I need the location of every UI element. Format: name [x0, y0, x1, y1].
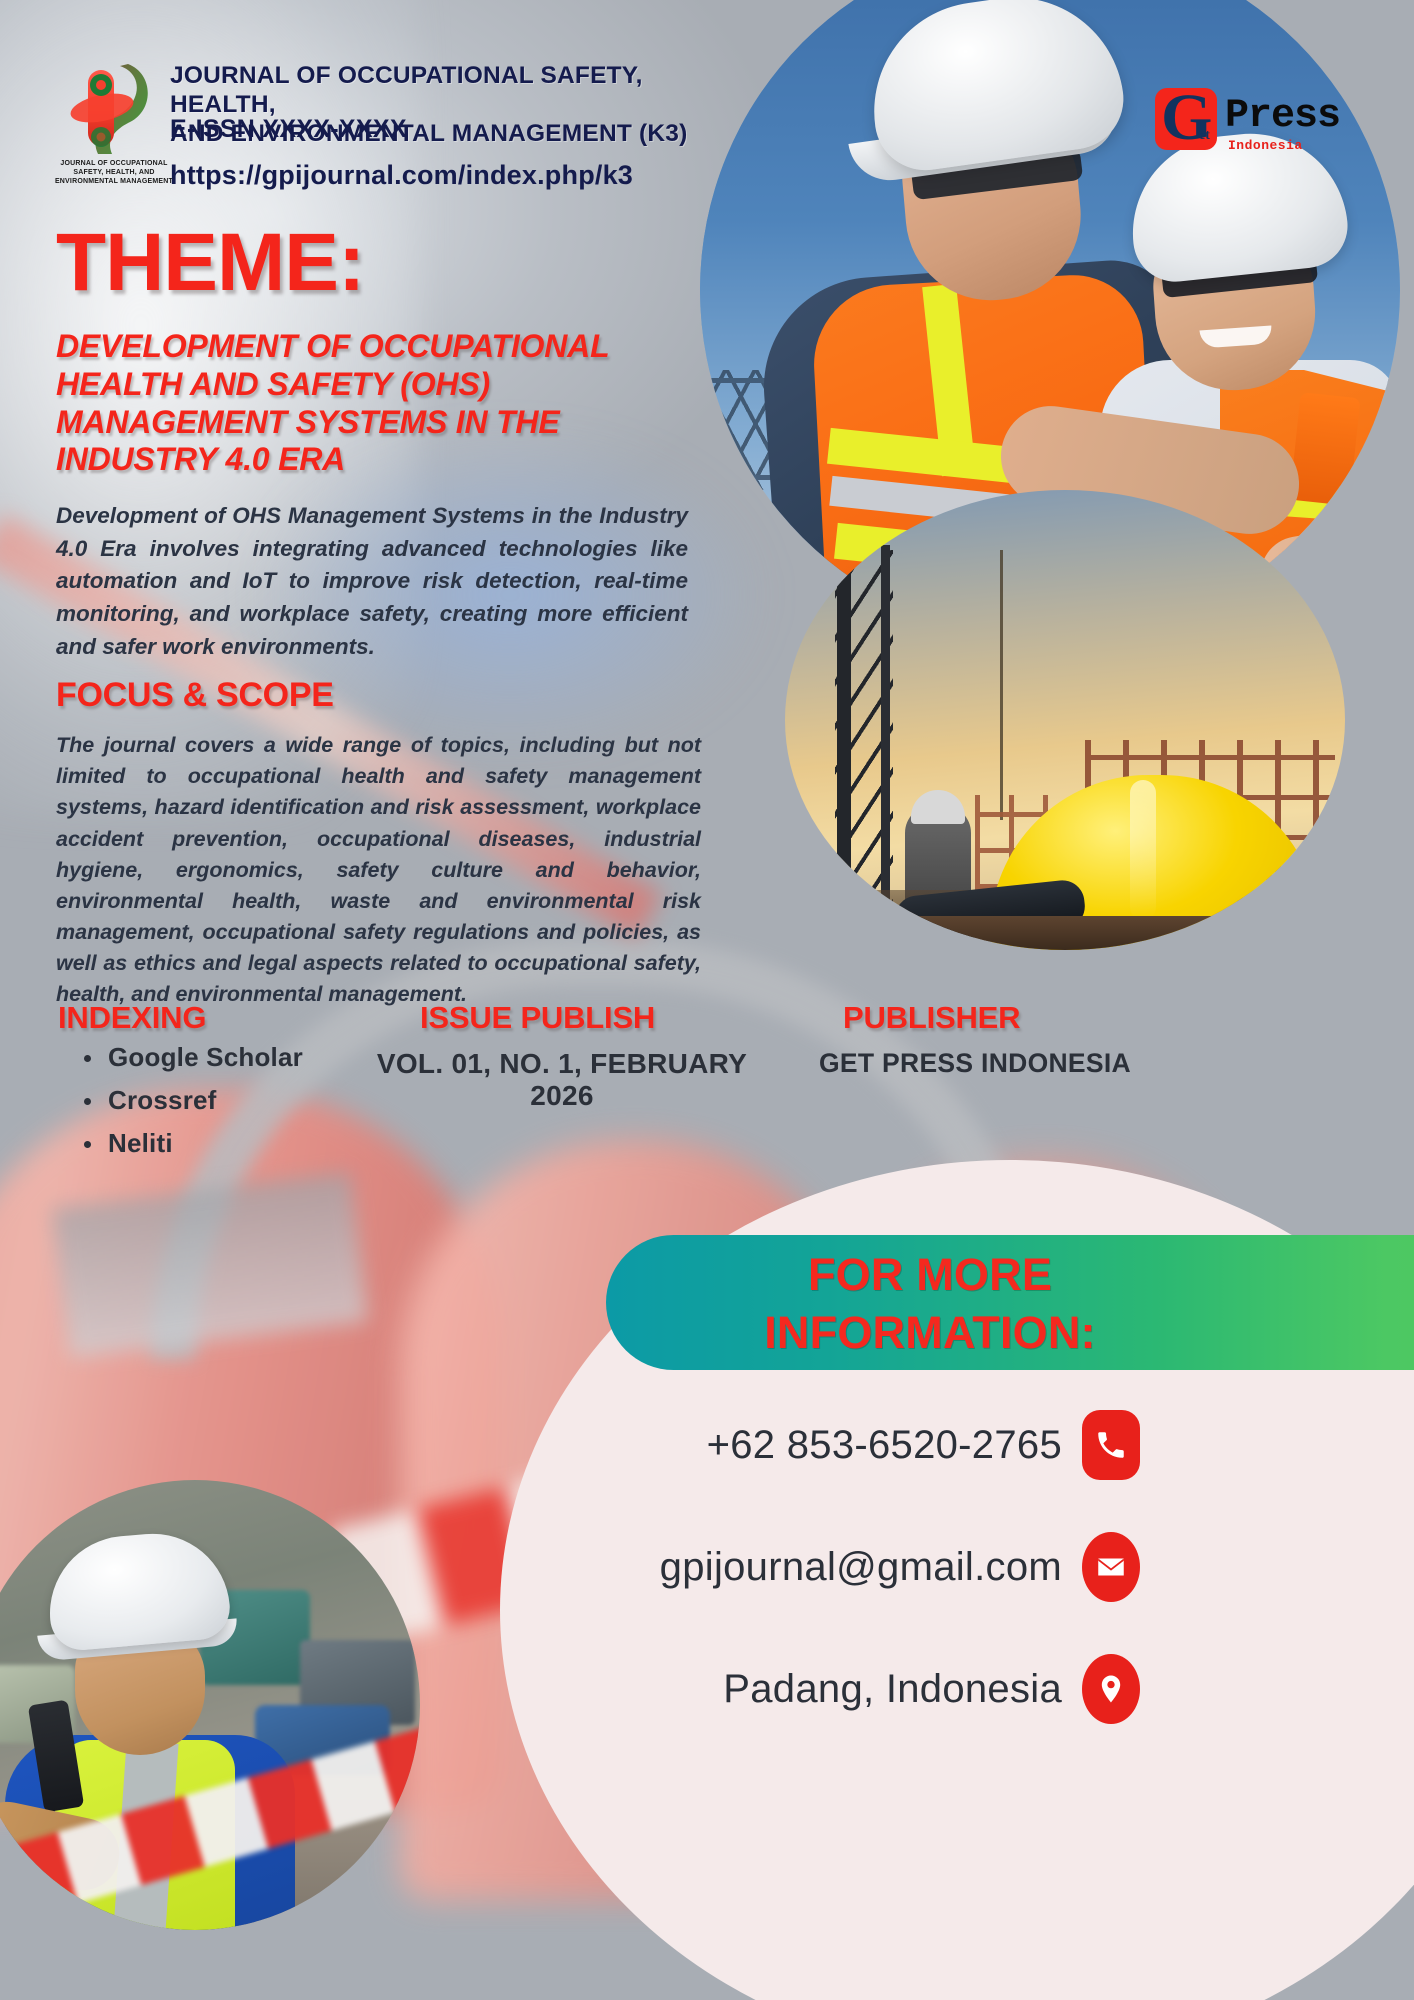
indexing-list: Google Scholar Crossref Neliti [78, 1042, 303, 1171]
theme-description: Development of OHS Management Systems in… [56, 500, 688, 663]
indexing-heading: INDEXING [58, 1000, 206, 1036]
contact-row-email[interactable]: gpijournal@gmail.com [540, 1532, 1140, 1602]
get-press-logo-indonesia: Indonesia [1228, 138, 1303, 153]
journal-url[interactable]: https://gpijournal.com/index.php/k3 [170, 160, 633, 191]
poster-root: JOURNAL OF OCCUPATIONAL SAFETY, HEALTH, … [0, 0, 1414, 2000]
envelope-icon[interactable] [1082, 1532, 1140, 1602]
crane-cable [1000, 550, 1003, 820]
publisher-heading: PUBLISHER [843, 1000, 1020, 1036]
contact-rows: +62 853-6520-2765 gpijournal@gmail.com P… [540, 1410, 1140, 1776]
list-item: Google Scholar [78, 1042, 303, 1073]
journal-logo: JOURNAL OF OCCUPATIONAL SAFETY, HEALTH, … [58, 52, 168, 182]
photo-worker-with-radio [0, 1480, 420, 1930]
contact-panel-inner: FOR MORE INFORMATION: +62 853-6520-2765 … [500, 1160, 1414, 2000]
worker2-radio [1290, 392, 1361, 506]
photo-construction-site [785, 490, 1345, 950]
focus-scope-description: The journal covers a wide range of topic… [56, 730, 701, 1011]
wood-table [785, 916, 1345, 950]
theme-label: THEME: [56, 224, 364, 302]
publisher-value: GET PRESS INDONESIA [760, 1048, 1190, 1079]
issue-publish-heading: ISSUE PUBLISH [420, 1000, 655, 1036]
map-pin-icon[interactable] [1082, 1654, 1140, 1724]
journal-logo-caption: JOURNAL OF OCCUPATIONAL SAFETY, HEALTH, … [50, 160, 178, 186]
journal-logo-mark [58, 52, 168, 162]
list-item: Crossref [78, 1085, 303, 1116]
contact-phone-text: +62 853-6520-2765 [707, 1423, 1062, 1468]
for-more-information-line1: FOR MORE [808, 1246, 1052, 1304]
journal-title-line1: JOURNAL OF OCCUPATIONAL SAFETY, HEALTH, [170, 62, 750, 120]
focus-scope-heading: FOCUS & SCOPE [56, 676, 334, 715]
list-item: Neliti [78, 1128, 303, 1159]
journal-eissn: E-ISSN XXXX-XXXX [170, 115, 407, 144]
theme-title: DEVELOPMENT OF OCCUPATIONAL HEALTH AND S… [56, 328, 696, 479]
for-more-information-line2: INFORMATION: [764, 1304, 1096, 1362]
for-more-information-text: FOR MORE INFORMATION: [660, 1238, 1200, 1370]
contact-row-location[interactable]: Padang, Indonesia [540, 1654, 1140, 1724]
contact-panel: FOR MORE INFORMATION: +62 853-6520-2765 … [500, 1160, 1414, 2000]
get-press-logo: G et Press Indonesia [1155, 88, 1395, 168]
get-press-logo-press: Press [1225, 94, 1340, 139]
get-press-logo-et: et [1199, 128, 1210, 144]
contact-location-text: Padang, Indonesia [723, 1667, 1062, 1712]
crane-mast-2 [881, 545, 890, 945]
issue-publish-value: VOL. 01, NO. 1, FEBRUARY 2026 [352, 1048, 772, 1112]
phone-icon[interactable] [1082, 1410, 1140, 1480]
yellow-hard-hat-ridge [1130, 780, 1156, 920]
contact-row-phone[interactable]: +62 853-6520-2765 [540, 1410, 1140, 1480]
contact-email-text: gpijournal@gmail.com [660, 1545, 1062, 1590]
